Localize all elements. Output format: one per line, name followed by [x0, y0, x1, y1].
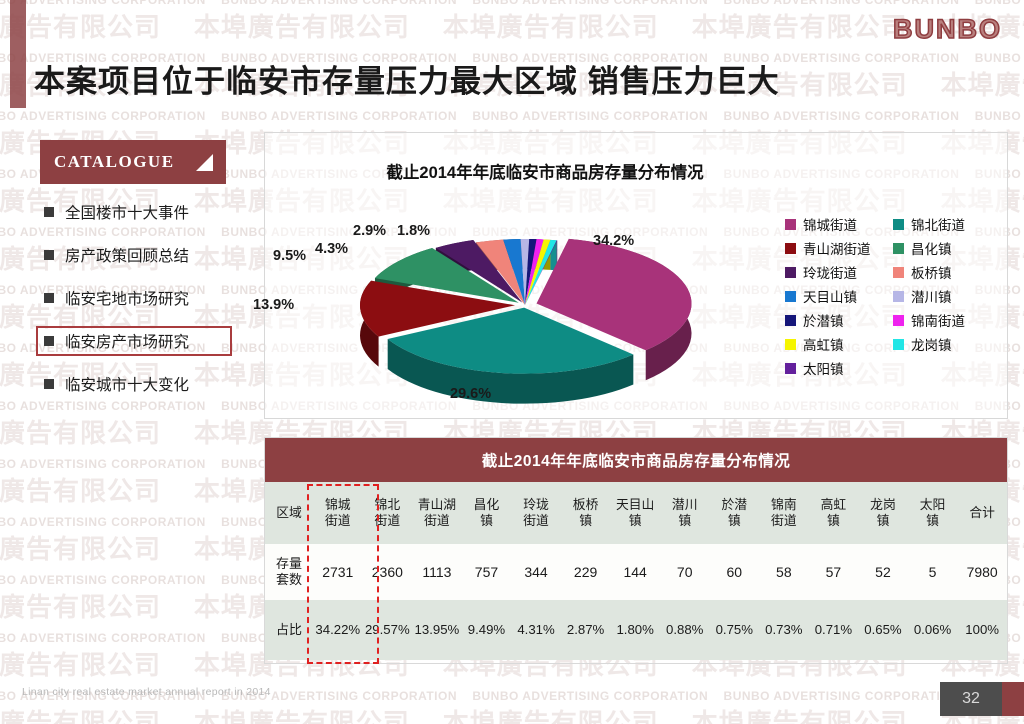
sidebar-item-4[interactable]: 临安城市十大变化 — [40, 369, 230, 399]
chart-legend: 锦城街道锦北街道青山湖街道昌化镇玲珑街道板桥镇天目山镇潜川镇於潜镇锦南街道高虹镇… — [785, 215, 1000, 377]
catalogue-title: CATALOGUE — [54, 152, 175, 172]
bunbo-logo: BUNBO — [893, 14, 1002, 45]
row-label-line: 存量 — [265, 556, 313, 572]
table-cell: 58 — [759, 544, 809, 600]
table-cell: 板桥镇 — [561, 482, 611, 544]
catalogue-sidebar: CATALOGUE 全国楼市十大事件房产政策回顾总结临安宅地市场研究临安房产市场… — [40, 140, 230, 399]
distribution-table-panel: 截止2014年年底临安市商品房存量分布情况 区域锦城街道锦北街道青山湖街道昌化镇… — [264, 437, 1008, 664]
column-header-line: 锦城 — [313, 497, 363, 513]
row-label-line: 占比 — [265, 622, 313, 638]
table-banner: 截止2014年年底临安市商品房存量分布情况 — [265, 438, 1007, 482]
legend-label: 太阳镇 — [803, 358, 844, 378]
column-header-line: 街道 — [313, 513, 363, 529]
table-cell: 57 — [809, 544, 859, 600]
sidebar-item-0[interactable]: 全国楼市十大事件 — [40, 197, 230, 227]
row-label-line: 区域 — [265, 505, 313, 521]
legend-item-6[interactable]: 天目山镇 — [785, 287, 893, 305]
table-row: 占比34.22%29.57%13.95%9.49%4.31%2.87%1.80%… — [265, 600, 1007, 660]
column-header-line: 玲珑 — [511, 497, 561, 513]
table-cell: 2360 — [363, 544, 413, 600]
table-cell: 0.65% — [858, 600, 908, 660]
table-cell: 高虹镇 — [809, 482, 859, 544]
legend-label: 昌化镇 — [911, 238, 952, 258]
sidebar-item-label: 临安房产市场研究 — [65, 330, 189, 352]
sidebar-item-label: 房产政策回顾总结 — [65, 244, 189, 266]
legend-item-2[interactable]: 青山湖街道 — [785, 239, 893, 257]
catalogue-header: CATALOGUE — [40, 140, 226, 184]
row-label-cell: 区域 — [265, 482, 313, 544]
table-cell: 1.80% — [610, 600, 660, 660]
column-header-line: 龙岗 — [858, 497, 908, 513]
table-cell: 757 — [462, 544, 512, 600]
legend-label: 龙岗镇 — [911, 334, 952, 354]
sidebar-item-2[interactable]: 临安宅地市场研究 — [40, 283, 230, 313]
row-label-cell: 占比 — [265, 600, 313, 660]
table-cell: 100% — [957, 600, 1007, 660]
table-cell: 144 — [610, 544, 660, 600]
table-cell: 龙岗镇 — [858, 482, 908, 544]
table-cell: 锦南街道 — [759, 482, 809, 544]
pie-label-3: 9.5% — [273, 248, 306, 264]
table-cell: 34.22% — [313, 600, 363, 660]
legend-swatch-icon — [785, 363, 796, 374]
legend-label: 天目山镇 — [803, 286, 857, 306]
slide-header: 本案项目位于临安市存量压力最大区域 销售压力巨大 BUNBO — [0, 0, 1024, 118]
square-bullet-icon — [44, 207, 54, 217]
pie-label-5: 2.9% — [353, 223, 386, 239]
chart-title: 截止2014年年底临安市商品房存量分布情况 — [265, 159, 825, 183]
column-header-line: 潜川 — [660, 497, 710, 513]
legend-item-12[interactable]: 太阳镇 — [785, 359, 893, 377]
pie-chart-panel: 截止2014年年底临安市商品房存量分布情况 34.2%29.6%13.9%9.5… — [264, 132, 1008, 419]
column-header-line: 镇 — [858, 513, 908, 529]
table-cell: 玲珑街道 — [511, 482, 561, 544]
table-cell: 9.49% — [462, 600, 512, 660]
column-header-line: 板桥 — [561, 497, 611, 513]
legend-swatch-icon — [893, 315, 904, 326]
pie-label-1: 29.6% — [450, 386, 491, 402]
legend-item-7[interactable]: 潜川镇 — [893, 287, 1000, 305]
table-cell: 7980 — [957, 544, 1007, 600]
table-cell: 太阳镇 — [908, 482, 958, 544]
legend-label: 锦南街道 — [911, 310, 965, 330]
page-title: 本案项目位于临安市存量压力最大区域 销售压力巨大 — [34, 56, 780, 101]
legend-swatch-icon — [785, 339, 796, 350]
column-header-line: 街道 — [511, 513, 561, 529]
table-cell: 2731 — [313, 544, 363, 600]
legend-swatch-icon — [785, 315, 796, 326]
table-cell: 2.87% — [561, 600, 611, 660]
table-cell: 229 — [561, 544, 611, 600]
header-accent-bar — [10, 0, 26, 108]
table-cell: 52 — [858, 544, 908, 600]
pie-label-4: 4.3% — [315, 241, 348, 257]
table-cell: 0.75% — [710, 600, 760, 660]
sidebar-item-label: 临安宅地市场研究 — [65, 287, 189, 309]
legend-swatch-icon — [785, 243, 796, 254]
sidebar-item-label: 全国楼市十大事件 — [65, 201, 189, 223]
page-number-box: 32 — [940, 682, 1002, 716]
column-header-line: 镇 — [710, 513, 760, 529]
table-cell: 0.06% — [908, 600, 958, 660]
pie-label-6: 1.8% — [397, 223, 430, 239]
legend-swatch-icon — [893, 339, 904, 350]
table-cell: 昌化镇 — [462, 482, 512, 544]
column-header-line: 锦北 — [363, 497, 413, 513]
table-cell: 天目山镇 — [610, 482, 660, 544]
column-header-line: 太阳 — [908, 497, 958, 513]
table-cell: 60 — [710, 544, 760, 600]
legend-swatch-icon — [893, 267, 904, 278]
legend-label: 玲珑街道 — [803, 262, 857, 282]
column-header-line: 高虹 — [809, 497, 859, 513]
pie-chart: 34.2%29.6%13.9%9.5%4.3%2.9%1.8% — [275, 193, 775, 408]
watermark-row: 本埠廣告有限公司 本埠廣告有限公司 本埠廣告有限公司 本埠廣告有限公司 本埠廣告… — [0, 708, 1024, 724]
legend-swatch-icon — [785, 291, 796, 302]
legend-item-5[interactable]: 板桥镇 — [893, 263, 1000, 281]
pie-chart-svg — [275, 193, 775, 408]
table-cell: 青山湖街道 — [412, 482, 462, 544]
table-cell: 1113 — [412, 544, 462, 600]
sidebar-item-1[interactable]: 房产政策回顾总结 — [40, 240, 230, 270]
legend-item-0[interactable]: 锦城街道 — [785, 215, 893, 233]
column-header-line: 镇 — [809, 513, 859, 529]
legend-swatch-icon — [893, 291, 904, 302]
sidebar-nav-list: 全国楼市十大事件房产政策回顾总结临安宅地市场研究临安房产市场研究临安城市十大变化 — [40, 197, 230, 399]
legend-item-11[interactable]: 龙岗镇 — [893, 335, 1000, 353]
table-cell: 4.31% — [511, 600, 561, 660]
legend-swatch-icon — [785, 219, 796, 230]
legend-swatch-icon — [893, 219, 904, 230]
legend-label: 锦城街道 — [803, 214, 857, 234]
legend-label: 板桥镇 — [911, 262, 952, 282]
table-cell: 锦城街道 — [313, 482, 363, 544]
page-number: 32 — [962, 690, 980, 708]
legend-item-10[interactable]: 高虹镇 — [785, 335, 893, 353]
table-cell: 潜川镇 — [660, 482, 710, 544]
square-bullet-icon — [44, 250, 54, 260]
legend-swatch-icon — [785, 267, 796, 278]
column-header-line: 镇 — [561, 513, 611, 529]
column-header-line: 镇 — [660, 513, 710, 529]
column-header-line: 天目山 — [610, 497, 660, 513]
legend-item-3[interactable]: 昌化镇 — [893, 239, 1000, 257]
square-bullet-icon — [44, 379, 54, 389]
column-header-line: 街道 — [412, 513, 462, 529]
legend-label: 高虹镇 — [803, 334, 844, 354]
column-header-line: 街道 — [759, 513, 809, 529]
triangle-icon — [196, 154, 213, 171]
legend-item-4[interactable]: 玲珑街道 — [785, 263, 893, 281]
column-header-line: 昌化 — [462, 497, 512, 513]
column-header-line: 街道 — [363, 513, 413, 529]
legend-item-1[interactable]: 锦北街道 — [893, 215, 1000, 233]
sidebar-item-label: 临安城市十大变化 — [65, 373, 189, 395]
table-cell: 0.71% — [809, 600, 859, 660]
column-header-line: 合计 — [957, 505, 1007, 521]
table-cell: 29.57% — [363, 600, 413, 660]
table-cell: 13.95% — [412, 600, 462, 660]
table-banner-title: 截止2014年年底临安市商品房存量分布情况 — [482, 449, 790, 471]
legend-item-9[interactable]: 锦南街道 — [893, 311, 1000, 329]
column-header-line: 镇 — [610, 513, 660, 529]
legend-item-8[interactable]: 於潜镇 — [785, 311, 893, 329]
legend-swatch-icon — [893, 243, 904, 254]
table-cell: 合计 — [957, 482, 1007, 544]
square-bullet-icon — [44, 293, 54, 303]
column-header-line: 青山湖 — [412, 497, 462, 513]
column-header-line: 镇 — [908, 513, 958, 529]
table-cell: 锦北街道 — [363, 482, 413, 544]
square-bullet-icon — [44, 336, 54, 346]
footer-note: Linan city real estate market annual rep… — [22, 686, 271, 698]
page-number-accent — [1002, 682, 1024, 716]
sidebar-item-3[interactable]: 临安房产市场研究 — [36, 326, 232, 356]
row-label-cell: 存量套数 — [265, 544, 313, 600]
table-cell: 344 — [511, 544, 561, 600]
table-header-row: 区域锦城街道锦北街道青山湖街道昌化镇玲珑街道板桥镇天目山镇潜川镇於潜镇锦南街道高… — [265, 482, 1007, 544]
legend-label: 潜川镇 — [911, 286, 952, 306]
legend-label: 锦北街道 — [911, 214, 965, 234]
table-cell: 0.73% — [759, 600, 809, 660]
distribution-table: 区域锦城街道锦北街道青山湖街道昌化镇玲珑街道板桥镇天目山镇潜川镇於潜镇锦南街道高… — [265, 482, 1007, 660]
legend-label: 青山湖街道 — [803, 238, 871, 258]
table-cell: 於潜镇 — [710, 482, 760, 544]
table-cell: 70 — [660, 544, 710, 600]
table-row: 存量套数273123601113757344229144706058575257… — [265, 544, 1007, 600]
table-cell: 5 — [908, 544, 958, 600]
pie-label-0: 34.2% — [593, 233, 634, 249]
table-cell: 0.88% — [660, 600, 710, 660]
pie-label-2: 13.9% — [253, 297, 294, 313]
row-label-line: 套数 — [265, 572, 313, 588]
column-header-line: 镇 — [462, 513, 512, 529]
legend-label: 於潜镇 — [803, 310, 844, 330]
column-header-line: 於潜 — [710, 497, 760, 513]
column-header-line: 锦南 — [759, 497, 809, 513]
